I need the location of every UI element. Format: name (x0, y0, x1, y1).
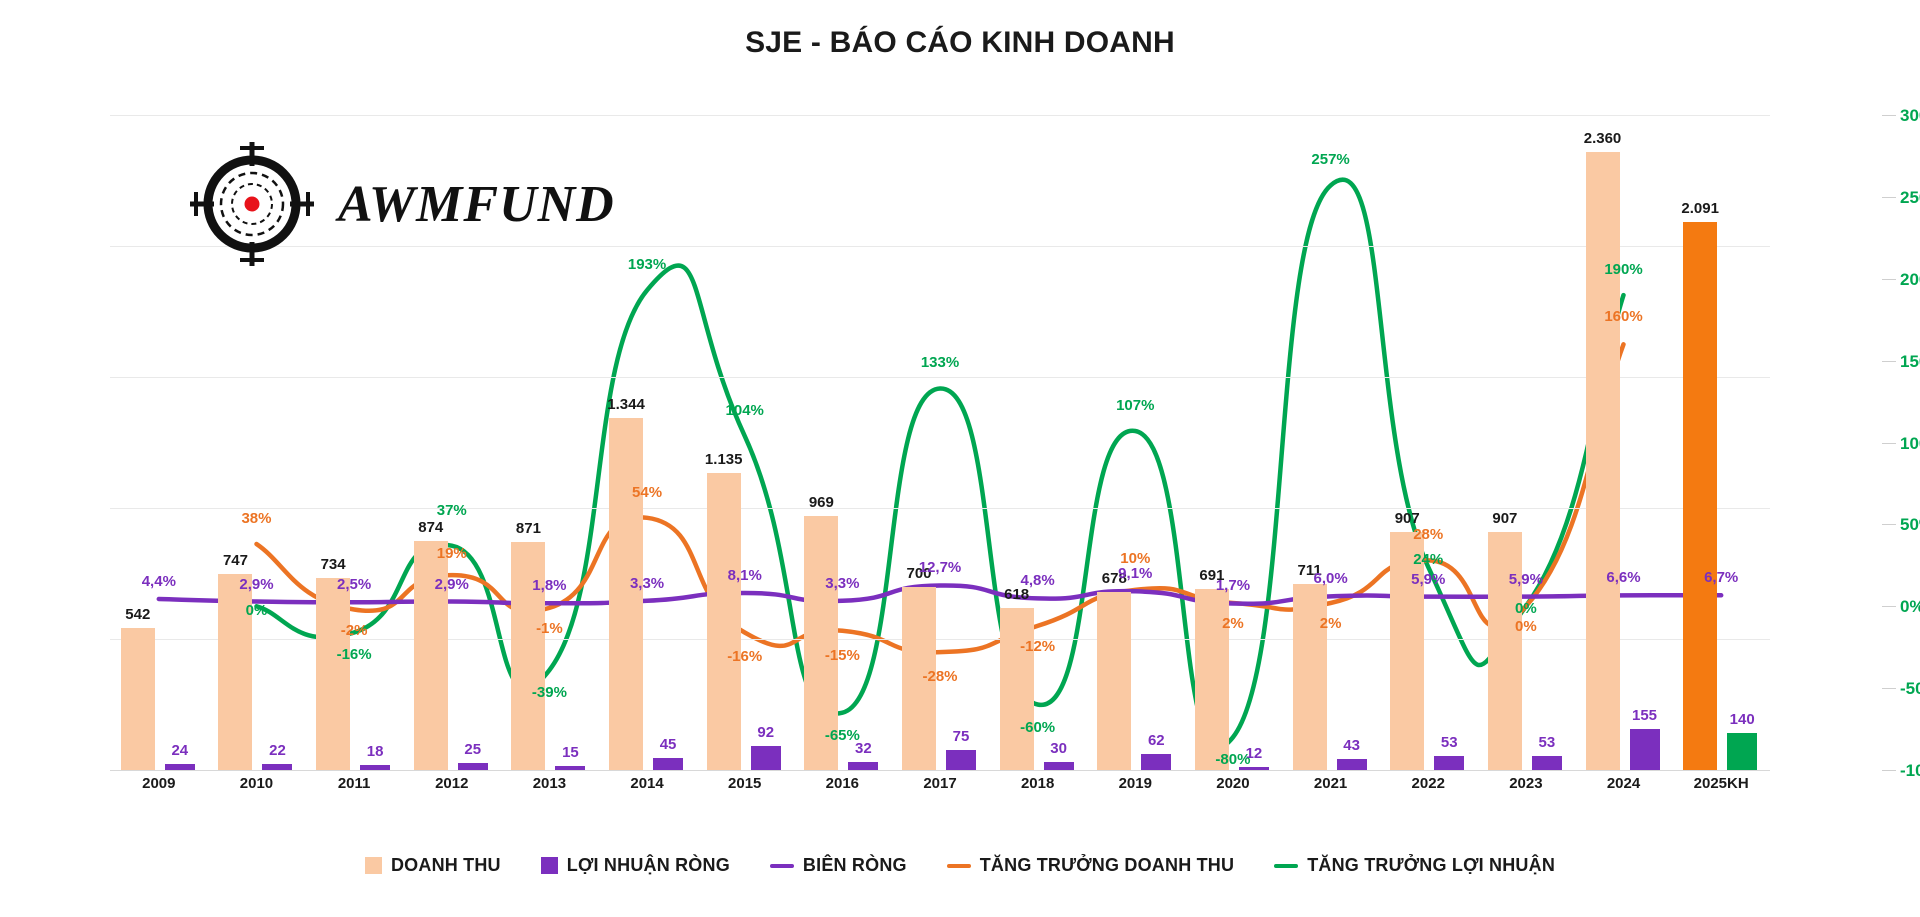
profit-growth-label: -39% (532, 684, 567, 701)
revenue-value-label: 734 (321, 556, 346, 573)
right-axis-tick-mark (1882, 524, 1896, 525)
revenue-value-label: 969 (809, 494, 834, 511)
net-margin-label: 9,1% (1118, 565, 1152, 582)
net-margin-label: 5,9% (1411, 571, 1445, 588)
chart-column (1477, 115, 1575, 770)
chart-column (1282, 115, 1380, 770)
chart-column (794, 115, 892, 770)
net-margin-label: 5,9% (1509, 571, 1543, 588)
net-profit-bar[interactable] (751, 746, 781, 770)
right-axis-tick-label: 300% (1900, 106, 1920, 126)
revenue-growth-label: 2% (1320, 615, 1342, 632)
net-profit-value-label: 45 (660, 736, 677, 753)
net-margin-label: 3,3% (825, 575, 859, 592)
x-axis-tick-label: 2022 (1412, 775, 1445, 792)
revenue-growth-label: 28% (1413, 526, 1443, 543)
chart-column (1379, 115, 1477, 770)
revenue-bar[interactable] (707, 473, 741, 770)
net-margin-label: 4,4% (142, 573, 176, 590)
revenue-growth-label: -15% (825, 647, 860, 664)
x-axis-tick-label: 2012 (435, 775, 468, 792)
net-profit-bar[interactable] (946, 750, 976, 770)
revenue-growth-label: 2% (1222, 615, 1244, 632)
chart-plot-area: 54224747227341887425871151.344451.135929… (110, 115, 1770, 770)
net-profit-value-label: 25 (464, 741, 481, 758)
revenue-growth-label: 19% (437, 545, 467, 562)
net-margin-label: 4,8% (1021, 572, 1055, 589)
profit-growth-label: -60% (1020, 719, 1055, 736)
profit-growth-label: -65% (825, 727, 860, 744)
profit-growth-label: 193% (628, 256, 666, 273)
net-margin-label: 12,7% (919, 559, 962, 576)
right-axis-tick-label: 150% (1900, 352, 1920, 372)
net-profit-bar[interactable] (1337, 759, 1367, 770)
chart-column (403, 115, 501, 770)
x-axis-tick-label: 2019 (1119, 775, 1152, 792)
chart-column (501, 115, 599, 770)
net-profit-value-label: 140 (1730, 711, 1755, 728)
profit-growth-label: 37% (437, 502, 467, 519)
net-profit-bar[interactable] (1434, 756, 1464, 770)
legend-label: TĂNG TRƯỞNG DOANH THU (980, 855, 1234, 876)
legend-net-margin[interactable]: BIÊN RÒNG (770, 855, 907, 876)
x-axis-labels: 2009201020112012201320142015201620172018… (110, 775, 1770, 801)
legend-net-profit[interactable]: LỢI NHUẬN RÒNG (541, 855, 730, 876)
net-margin-label: 6,0% (1313, 570, 1347, 587)
profit-growth-label: -80% (1215, 751, 1250, 768)
page-title: SJE - BÁO CÁO KINH DOANH (0, 26, 1920, 60)
revenue-growth-label: -2% (341, 622, 368, 639)
right-axis-tick-label: 50% (1900, 515, 1920, 535)
revenue-growth-label: 54% (632, 484, 662, 501)
x-axis-tick-label: 2017 (923, 775, 956, 792)
x-axis-tick-label: 2023 (1509, 775, 1542, 792)
revenue-bar[interactable] (1488, 532, 1522, 770)
legend-revenue-growth[interactable]: TĂNG TRƯỞNG DOANH THU (947, 855, 1234, 876)
x-axis-tick-label: 2021 (1314, 775, 1347, 792)
net-profit-value-label: 22 (269, 742, 286, 759)
chart-column (208, 115, 306, 770)
net-margin-label: 3,3% (630, 575, 664, 592)
legend-swatch-icon (365, 857, 382, 874)
right-axis-tick-label: 250% (1900, 188, 1920, 208)
net-margin-label: 2,9% (239, 576, 273, 593)
revenue-bar[interactable] (1586, 152, 1620, 770)
revenue-value-label: 1.344 (607, 396, 645, 413)
net-profit-bar[interactable] (262, 764, 292, 770)
net-profit-value-label: 43 (1343, 737, 1360, 754)
net-profit-value-label: 92 (757, 724, 774, 741)
chart-legend: DOANH THULỢI NHUẬN RÒNGBIÊN RÒNGTĂNG TRƯ… (0, 855, 1920, 876)
x-axis-tick-label: 2009 (142, 775, 175, 792)
profit-growth-label: 190% (1604, 261, 1642, 278)
revenue-value-label: 907 (1395, 510, 1420, 527)
net-profit-value-label: 18 (367, 743, 384, 760)
chart-column (989, 115, 1087, 770)
right-axis-tick-mark (1882, 770, 1896, 771)
legend-swatch-icon (1274, 864, 1298, 868)
revenue-value-label: 1.135 (705, 451, 743, 468)
right-axis-tick-label: 200% (1900, 270, 1920, 290)
revenue-bar[interactable] (1097, 592, 1131, 770)
revenue-value-label: 907 (1492, 510, 1517, 527)
x-axis-tick-label: 2010 (240, 775, 273, 792)
net-margin-label: 6,6% (1606, 569, 1640, 586)
profit-growth-label: 0% (246, 602, 268, 619)
net-margin-label: 6,7% (1704, 569, 1738, 586)
x-axis-tick-label: 2011 (338, 775, 371, 792)
legend-label: DOANH THU (391, 855, 501, 876)
chart-column (305, 115, 403, 770)
net-profit-bar[interactable] (1727, 733, 1757, 770)
revenue-growth-label: 160% (1604, 308, 1642, 325)
right-axis-tick-label: -100% (1900, 761, 1920, 781)
net-profit-bar[interactable] (165, 764, 195, 770)
right-axis-tick-mark (1882, 443, 1896, 444)
net-profit-bar[interactable] (848, 762, 878, 770)
net-profit-value-label: 53 (1441, 734, 1458, 751)
legend-swatch-icon (947, 864, 971, 868)
net-margin-label: 1,8% (532, 577, 566, 594)
revenue-bar[interactable] (316, 578, 350, 770)
net-profit-value-label: 62 (1148, 732, 1165, 749)
net-margin-label: 8,1% (728, 567, 762, 584)
revenue-value-label: 2.360 (1584, 130, 1622, 147)
revenue-bar[interactable] (121, 628, 155, 770)
x-axis-tick-label: 2016 (826, 775, 859, 792)
profit-growth-label: 24% (1413, 551, 1443, 568)
revenue-bar[interactable] (1390, 532, 1424, 770)
profit-growth-label: 0% (1515, 600, 1537, 617)
revenue-growth-label: -28% (922, 668, 957, 685)
legend-revenue[interactable]: DOANH THU (365, 855, 501, 876)
revenue-growth-label: -12% (1020, 638, 1055, 655)
right-axis-tick-label: 100% (1900, 434, 1920, 454)
net-profit-value-label: 155 (1632, 707, 1657, 724)
chart-column (110, 115, 208, 770)
revenue-growth-label: -16% (727, 648, 762, 665)
right-axis-tick-label: 0% (1900, 597, 1920, 617)
net-profit-bar[interactable] (1044, 762, 1074, 770)
revenue-value-label: 747 (223, 552, 248, 569)
revenue-growth-label: 0% (1515, 618, 1537, 635)
net-margin-label: 1,7% (1216, 577, 1250, 594)
right-axis-tick-mark (1882, 115, 1896, 116)
net-margin-label: 2,5% (337, 576, 371, 593)
profit-growth-label: 107% (1116, 397, 1154, 414)
x-axis-tick-label: 2015 (728, 775, 761, 792)
gridline (110, 770, 1770, 771)
revenue-growth-label: 38% (241, 510, 271, 527)
profit-growth-label: 104% (726, 402, 764, 419)
net-margin-label: 2,9% (435, 576, 469, 593)
chart-column (1184, 115, 1282, 770)
revenue-bar[interactable] (1293, 584, 1327, 770)
legend-label: LỢI NHUẬN RÒNG (567, 855, 730, 876)
right-axis-tick-mark (1882, 279, 1896, 280)
right-axis-tick-mark (1882, 197, 1896, 198)
revenue-value-label: 2.091 (1681, 200, 1719, 217)
net-profit-bar[interactable] (458, 763, 488, 770)
net-profit-value-label: 75 (953, 728, 970, 745)
net-profit-bar[interactable] (1532, 756, 1562, 770)
net-profit-value-label: 30 (1050, 740, 1067, 757)
chart-column (696, 115, 794, 770)
x-axis-tick-label: 2020 (1216, 775, 1249, 792)
revenue-growth-label: 10% (1120, 550, 1150, 567)
net-profit-value-label: 24 (171, 742, 188, 759)
chart-column (1086, 115, 1184, 770)
net-profit-bar[interactable] (1630, 729, 1660, 770)
x-axis-tick-label: 2018 (1021, 775, 1054, 792)
legend-swatch-icon (541, 857, 558, 874)
chart-column (598, 115, 696, 770)
profit-growth-label: 133% (921, 354, 959, 371)
right-axis-tick-label: -50% (1900, 679, 1920, 699)
legend-profit-growth[interactable]: TĂNG TRƯỞNG LỢI NHUẬN (1274, 855, 1555, 876)
revenue-bar[interactable] (1000, 608, 1034, 770)
net-profit-bar[interactable] (555, 766, 585, 770)
net-profit-bar[interactable] (1141, 754, 1171, 770)
legend-label: BIÊN RÒNG (803, 855, 907, 876)
legend-swatch-icon (770, 864, 794, 868)
revenue-value-label: 542 (125, 606, 150, 623)
chart-column (1575, 115, 1673, 770)
x-axis-tick-label: 2013 (533, 775, 566, 792)
legend-label: TĂNG TRƯỞNG LỢI NHUẬN (1307, 855, 1555, 876)
x-axis-tick-label: 2024 (1607, 775, 1640, 792)
revenue-value-label: 874 (418, 519, 443, 536)
right-axis-tick-mark (1882, 606, 1896, 607)
revenue-growth-label: -1% (536, 620, 563, 637)
x-axis-tick-label: 2014 (630, 775, 663, 792)
revenue-bar[interactable] (609, 418, 643, 770)
revenue-value-label: 871 (516, 520, 541, 537)
revenue-bar[interactable] (1683, 222, 1717, 770)
profit-growth-label: 257% (1311, 151, 1349, 168)
right-axis-tick-mark (1882, 688, 1896, 689)
net-profit-bar[interactable] (653, 758, 683, 770)
x-axis-tick-label: 2025KH (1694, 775, 1749, 792)
right-axis-tick-mark (1882, 361, 1896, 362)
profit-growth-label: -16% (337, 646, 372, 663)
net-profit-bar[interactable] (360, 765, 390, 770)
revenue-bar[interactable] (511, 542, 545, 770)
net-profit-value-label: 15 (562, 744, 579, 761)
net-profit-value-label: 53 (1539, 734, 1556, 751)
